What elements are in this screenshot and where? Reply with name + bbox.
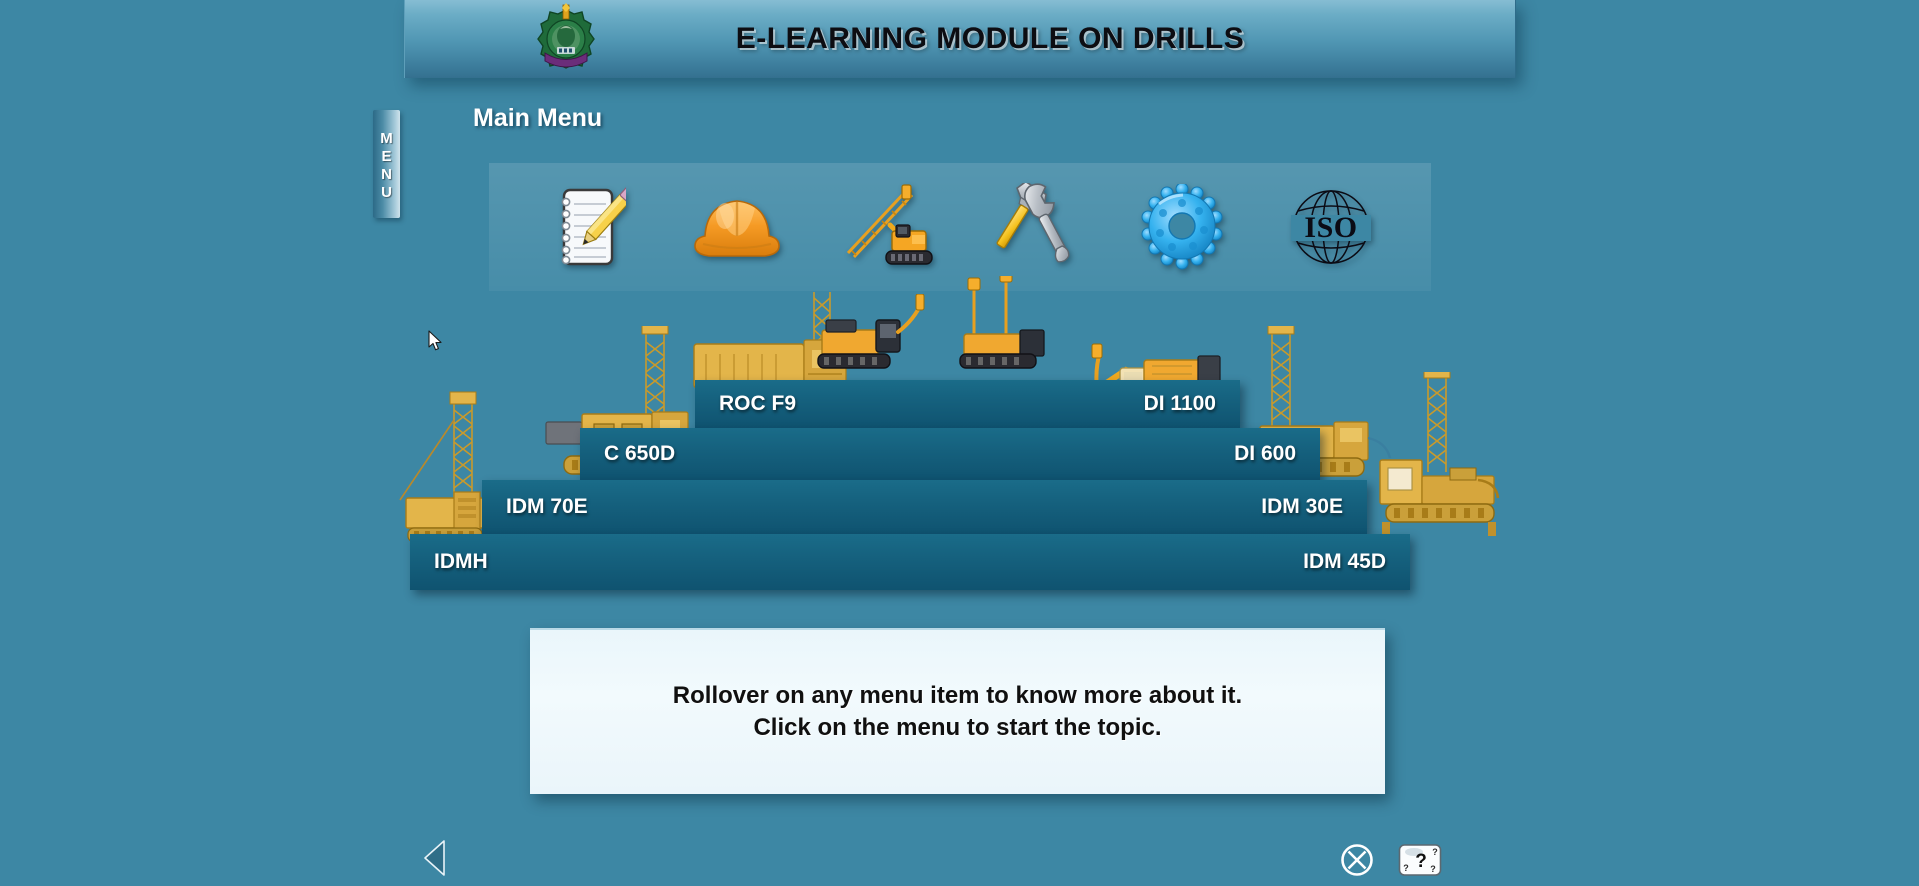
drill-rig-icon [834, 181, 938, 273]
page-title: Main Menu [473, 104, 602, 133]
menu-item-drills[interactable] [820, 173, 952, 281]
iso-globe-icon: ISO [1285, 187, 1377, 267]
icon-menu-bar: ISO [489, 163, 1431, 291]
menu-item-components[interactable] [1116, 173, 1248, 281]
svg-text:?: ? [1430, 864, 1436, 874]
organization-crest-logo [530, 3, 602, 75]
help-button[interactable]: ? ? ? ? [1398, 843, 1442, 877]
drill-pyramid: ROC F9 DI 1100 C 650D DI 600 IDM 70E IDM… [410, 330, 1520, 600]
svg-text:?: ? [1403, 863, 1409, 873]
blue-gear-icon [1139, 184, 1225, 270]
pyramid-tier-1[interactable]: ROC F9 DI 1100 [695, 380, 1240, 428]
menu-item-maintenance[interactable] [968, 173, 1100, 281]
app-stage: E-LEARNING MODULE ON DRILLS M E N U Main… [0, 0, 1919, 886]
svg-text:?: ? [1432, 847, 1438, 857]
menu-item-introduction[interactable] [523, 173, 655, 281]
notepad-pencil-icon [552, 184, 626, 270]
back-button[interactable] [424, 840, 446, 876]
menu-item-iso[interactable]: ISO [1265, 173, 1397, 281]
header-banner: E-LEARNING MODULE ON DRILLS [404, 0, 1516, 78]
pyramid-tier-3[interactable]: IDM 70E IDM 30E [482, 480, 1367, 534]
pyramid-tier-2[interactable]: C 650D DI 600 [580, 428, 1320, 480]
instruction-line-1: Rollover on any menu item to know more a… [673, 682, 1242, 710]
tier-3-left-label: IDM 70E [506, 495, 588, 519]
rig-illustration-di1100 [950, 276, 1060, 396]
instruction-line-2: Click on the menu to start the topic. [753, 714, 1161, 742]
menu-tab-letter-n: N [381, 166, 392, 183]
menu-tab-letter-e: E [381, 148, 391, 165]
hard-hat-icon [689, 188, 785, 266]
menu-tab-letter-u: U [381, 184, 392, 201]
tier-1-right-label: DI 1100 [1144, 392, 1216, 416]
tier-2-right-label: DI 600 [1234, 442, 1296, 466]
instruction-panel: Rollover on any menu item to know more a… [530, 628, 1385, 794]
svg-text:?: ? [1415, 851, 1427, 872]
tier-2-left-label: C 650D [604, 442, 675, 466]
tier-3-right-label: IDM 30E [1261, 495, 1343, 519]
hammer-wrench-icon [987, 183, 1081, 271]
menu-side-tab[interactable]: M E N U [373, 110, 400, 218]
tier-4-right-label: IDM 45D [1303, 550, 1386, 574]
svg-text:ISO: ISO [1304, 211, 1357, 244]
menu-item-safety[interactable] [671, 173, 803, 281]
close-button[interactable] [1340, 843, 1374, 877]
menu-tab-letter-m: M [380, 130, 393, 147]
pyramid-tier-4[interactable]: IDMH IDM 45D [410, 534, 1410, 590]
tier-1-left-label: ROC F9 [719, 392, 796, 416]
tier-4-left-label: IDMH [434, 550, 488, 574]
